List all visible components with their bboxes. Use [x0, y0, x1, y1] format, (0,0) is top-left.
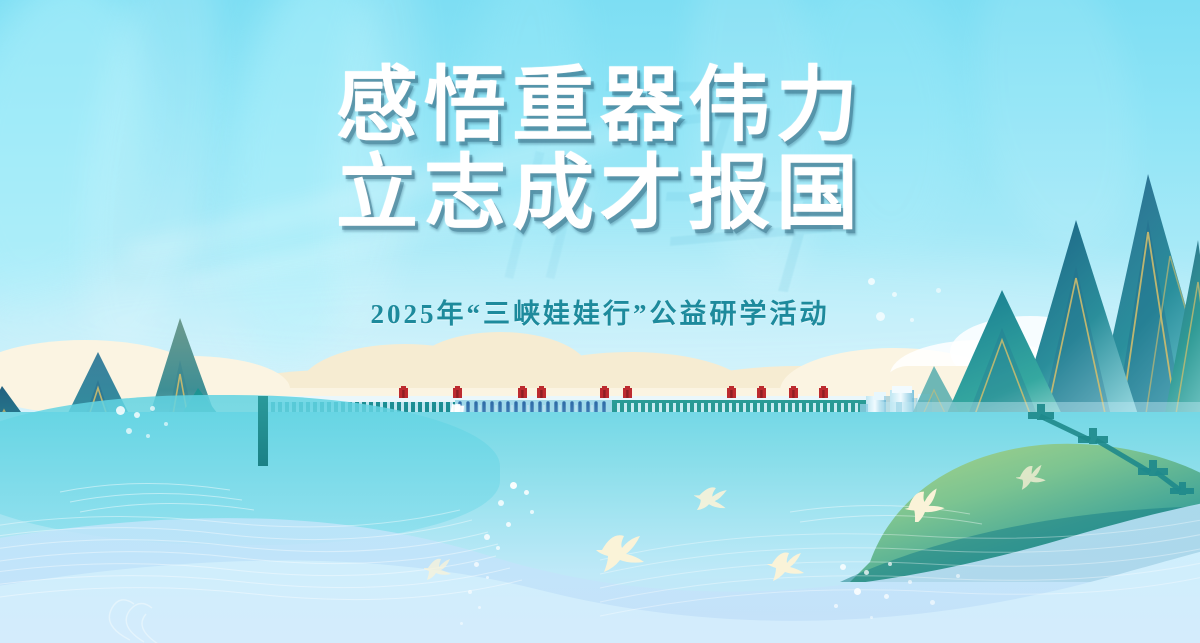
bubble-cluster-sky	[860, 278, 980, 348]
left-bank-structure	[258, 396, 268, 466]
swallow-bird-3	[900, 486, 948, 522]
bubble-cluster-left	[440, 480, 560, 643]
swallow-bird-1	[592, 530, 654, 576]
banner-illustration: 感悟重器伟力 立志成才报国 2025年“三峡娃娃行”公益研学活动	[0, 0, 1200, 643]
swallow-bird-2	[766, 548, 810, 582]
bubble-cluster-left-mountain	[116, 406, 186, 456]
swallow-bird-5	[424, 556, 458, 582]
swallow-bird-4	[694, 484, 734, 514]
bubble-cluster-right	[830, 560, 990, 640]
swallow-bird-6	[1016, 462, 1052, 490]
